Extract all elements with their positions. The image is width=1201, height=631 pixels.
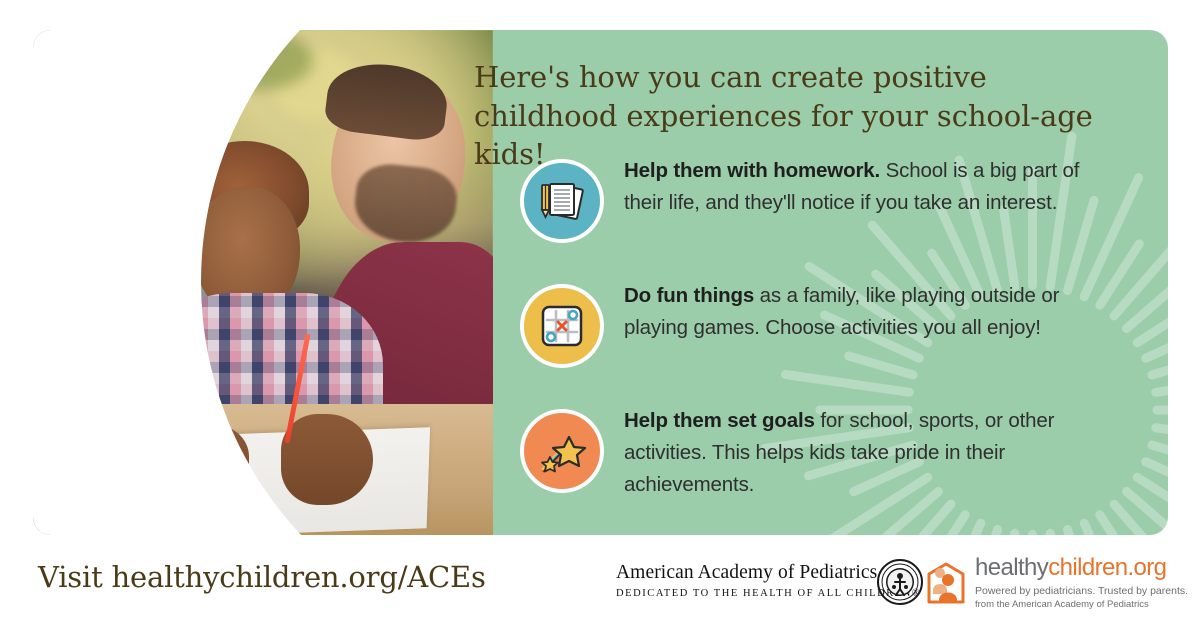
aap-logo: American Academy of Pediatrics DEDICATED…	[616, 562, 916, 599]
tic-tac-toe-icon	[520, 284, 604, 368]
photo-child-left-hand	[157, 424, 249, 505]
healthychildren-logo: healthychildren.org Powered by pediatric…	[925, 556, 1175, 610]
aap-seal-icon	[876, 558, 924, 606]
healthychildren-family-icon	[925, 560, 967, 604]
list-item-text: Do fun things as a family, like playing …	[624, 280, 1120, 344]
photo-child-right-hand	[281, 414, 373, 505]
aap-logo-tagline: DEDICATED TO THE HEALTH OF ALL CHILDREN®	[616, 588, 916, 599]
list-item: Help them set goals for school, sports, …	[520, 405, 1120, 513]
decorative-ray	[1151, 372, 1168, 397]
photo-adult-left-tattoo	[97, 368, 143, 398]
list-item: Do fun things as a family, like playing …	[520, 280, 1120, 388]
photo-canvas	[33, 30, 493, 535]
decorative-ray	[1131, 471, 1168, 535]
decorative-ray	[1120, 485, 1168, 535]
decorative-ray	[1146, 350, 1168, 380]
tips-list: Help them with homework. School is a big…	[520, 155, 1120, 530]
list-item-text: Help them set goals for school, sports, …	[624, 405, 1120, 500]
wordmark-healthy: healthy	[975, 554, 1048, 581]
visit-url-text: Visit healthychildren.org/ACEs	[38, 560, 486, 594]
homework-notepad-icon	[520, 159, 604, 243]
decorative-ray	[1153, 406, 1169, 415]
aap-logo-title: American Academy of Pediatrics	[616, 562, 916, 584]
decorative-ray	[1146, 439, 1168, 484]
wordmark-children-org: children.org	[1048, 554, 1166, 581]
healthychildren-tagline-2: from the American Academy of Pediatrics	[975, 599, 1175, 610]
list-item-text: Help them with homework. School is a big…	[624, 155, 1120, 219]
shooting-star-icon	[520, 409, 604, 493]
decorative-ray	[1151, 423, 1168, 445]
family-photo	[33, 30, 493, 535]
decorative-ray	[1140, 456, 1168, 494]
list-item: Help them with homework. School is a big…	[520, 155, 1120, 263]
list-item-lead: Help them set goals	[624, 409, 815, 432]
healthychildren-wordmark: healthychildren.org	[975, 556, 1175, 580]
decorative-ray	[1028, 530, 1037, 535]
healthychildren-tagline-1: Powered by pediatricians. Trusted by par…	[975, 585, 1175, 597]
list-item-lead: Do fun things	[624, 284, 754, 307]
infographic-poster: Here's how you can create positive child…	[0, 0, 1201, 631]
list-item-lead: Help them with homework.	[624, 159, 880, 182]
photo-blur-blob	[203, 30, 313, 90]
decorative-ray	[1140, 300, 1168, 364]
decorative-ray	[1131, 288, 1168, 349]
decorative-ray	[1120, 226, 1168, 335]
